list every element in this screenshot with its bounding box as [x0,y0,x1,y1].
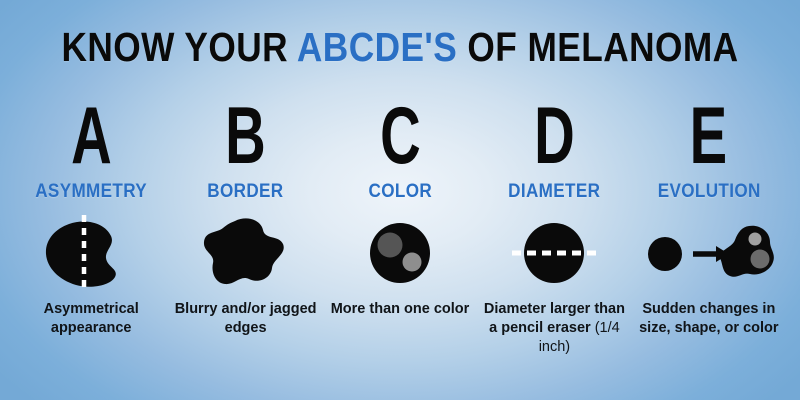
multicolor-lesion-icon [350,214,450,292]
column-asymmetry: A ASYMMETRY Asymmetrical appearance [14,96,168,338]
icon-slot-color [325,214,475,292]
caption-diameter: Diameter larger than a pencil eraser (1/… [479,300,629,357]
title-part-2: OF MELANOMA [457,24,738,70]
lesion-after-icon [719,226,773,277]
caption-asymmetry-text: Asymmetrical appearance [44,301,139,336]
letter-c: C [380,96,421,181]
caption-color: More than one color [325,300,475,319]
melanoma-abcde-infographic: KNOW YOUR ABCDE'S OF MELANOMA A ASYMMETR… [0,0,800,400]
lesion-before-icon [648,237,682,271]
letter-a: A [71,96,112,181]
column-color: C COLOR More than one color [323,96,477,319]
icon-slot-diameter [479,214,629,292]
column-evolution: E EVOLUTION Sudden changes in size, shap… [632,96,786,338]
column-border: B BORDER Blurry and/or jagged edges [168,96,322,338]
caption-border-text: Blurry and/or jagged edges [175,301,317,336]
lesion-spot-dark [378,233,403,258]
label-color: COLOR [368,182,432,202]
lesion-after-spot-light [748,233,761,246]
icon-slot-evolution [634,214,784,292]
letter-d: D [534,96,575,181]
asymmetric-lesion-with-dashed-axis-icon [31,214,151,292]
caption-color-text: More than one color [331,301,470,317]
title-part-1: KNOW YOUR [61,24,296,70]
caption-evolution: Sudden changes in size, shape, or color [634,300,784,338]
icon-slot-border [171,214,321,292]
label-evolution: EVOLUTION [657,182,760,202]
title-highlight: ABCDE'S [297,24,457,70]
caption-evolution-text: Sudden changes in size, shape, or color [639,301,778,336]
label-border: BORDER [207,182,283,202]
label-asymmetry: ASYMMETRY [35,182,147,202]
lesion-evolution-arrow-icon [639,214,779,292]
icon-slot-asymmetry [16,214,166,292]
letter-e: E [690,96,728,181]
caption-border: Blurry and/or jagged edges [171,300,321,338]
page-title: KNOW YOUR ABCDE'S OF MELANOMA [56,24,744,70]
lesion-diameter-measure-icon [494,214,614,292]
abcde-columns: A ASYMMETRY Asymmetrical appearance B BO… [0,96,800,396]
lesion-spot-light [403,253,422,272]
lesion-after-spot-dark [750,250,769,269]
label-diameter: DIAMETER [508,182,600,202]
jagged-border-lesion-icon [191,214,301,292]
column-diameter: D DIAMETER Diameter larger than a pencil… [477,96,631,357]
caption-asymmetry: Asymmetrical appearance [16,300,166,338]
letter-b: B [225,96,266,181]
